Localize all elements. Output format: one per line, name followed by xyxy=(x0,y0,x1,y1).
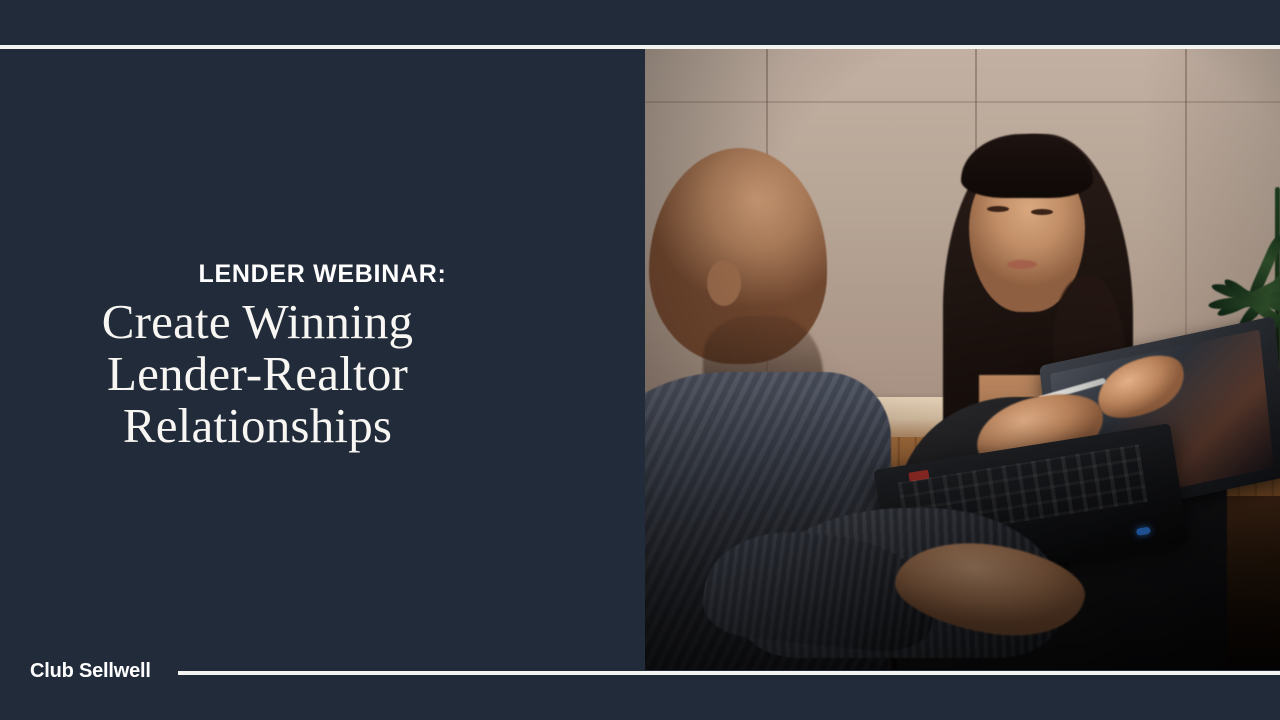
title-text-column: LENDER WEBINAR: Create Winning Lender-Re… xyxy=(0,49,645,670)
headline-line-2: Lender-Realtor xyxy=(40,348,475,400)
photo-vignette xyxy=(645,49,1280,670)
page-title: Create Winning Lender-Realtor Relationsh… xyxy=(40,296,475,452)
webinar-title-slide: LENDER WEBINAR: Create Winning Lender-Re… xyxy=(0,0,1280,720)
brand-logo-text: Club Sellwell xyxy=(30,660,151,683)
slide-footer xyxy=(0,670,1280,720)
headline-line-1: Create Winning xyxy=(40,296,475,348)
eyebrow-label: LENDER WEBINAR: xyxy=(0,260,645,289)
photo-scene xyxy=(645,49,1280,670)
headline-line-3: Relationships xyxy=(40,400,475,452)
hero-photo xyxy=(645,49,1280,670)
bottom-divider-rule xyxy=(178,671,1280,675)
